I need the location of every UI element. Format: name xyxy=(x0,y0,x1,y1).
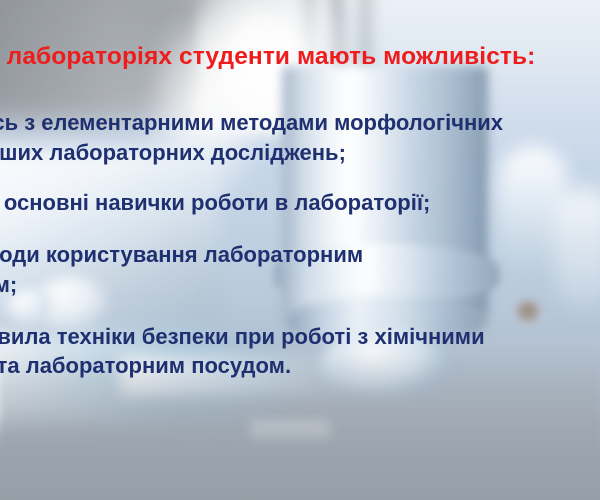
bullet-item-2: сформувати основні навички роботи в лабо… xyxy=(0,188,600,218)
presentation-slide: У навчальних лабораторіях студенти мають… xyxy=(0,0,600,500)
bullet-item-4: вивчити правила техніки безпеки при робо… xyxy=(0,322,600,382)
bullet-item-3: засвоїти методи користування лабораторни… xyxy=(0,240,600,300)
slide-title: У навчальних лабораторіях студенти мають… xyxy=(0,44,600,71)
bullet-item-1: ознайомитись з елементарними методами мо… xyxy=(0,108,600,168)
bullet-list: ознайомитись з елементарними методами мо… xyxy=(0,108,600,381)
slide-content: У навчальних лабораторіях студенти мають… xyxy=(0,0,600,500)
